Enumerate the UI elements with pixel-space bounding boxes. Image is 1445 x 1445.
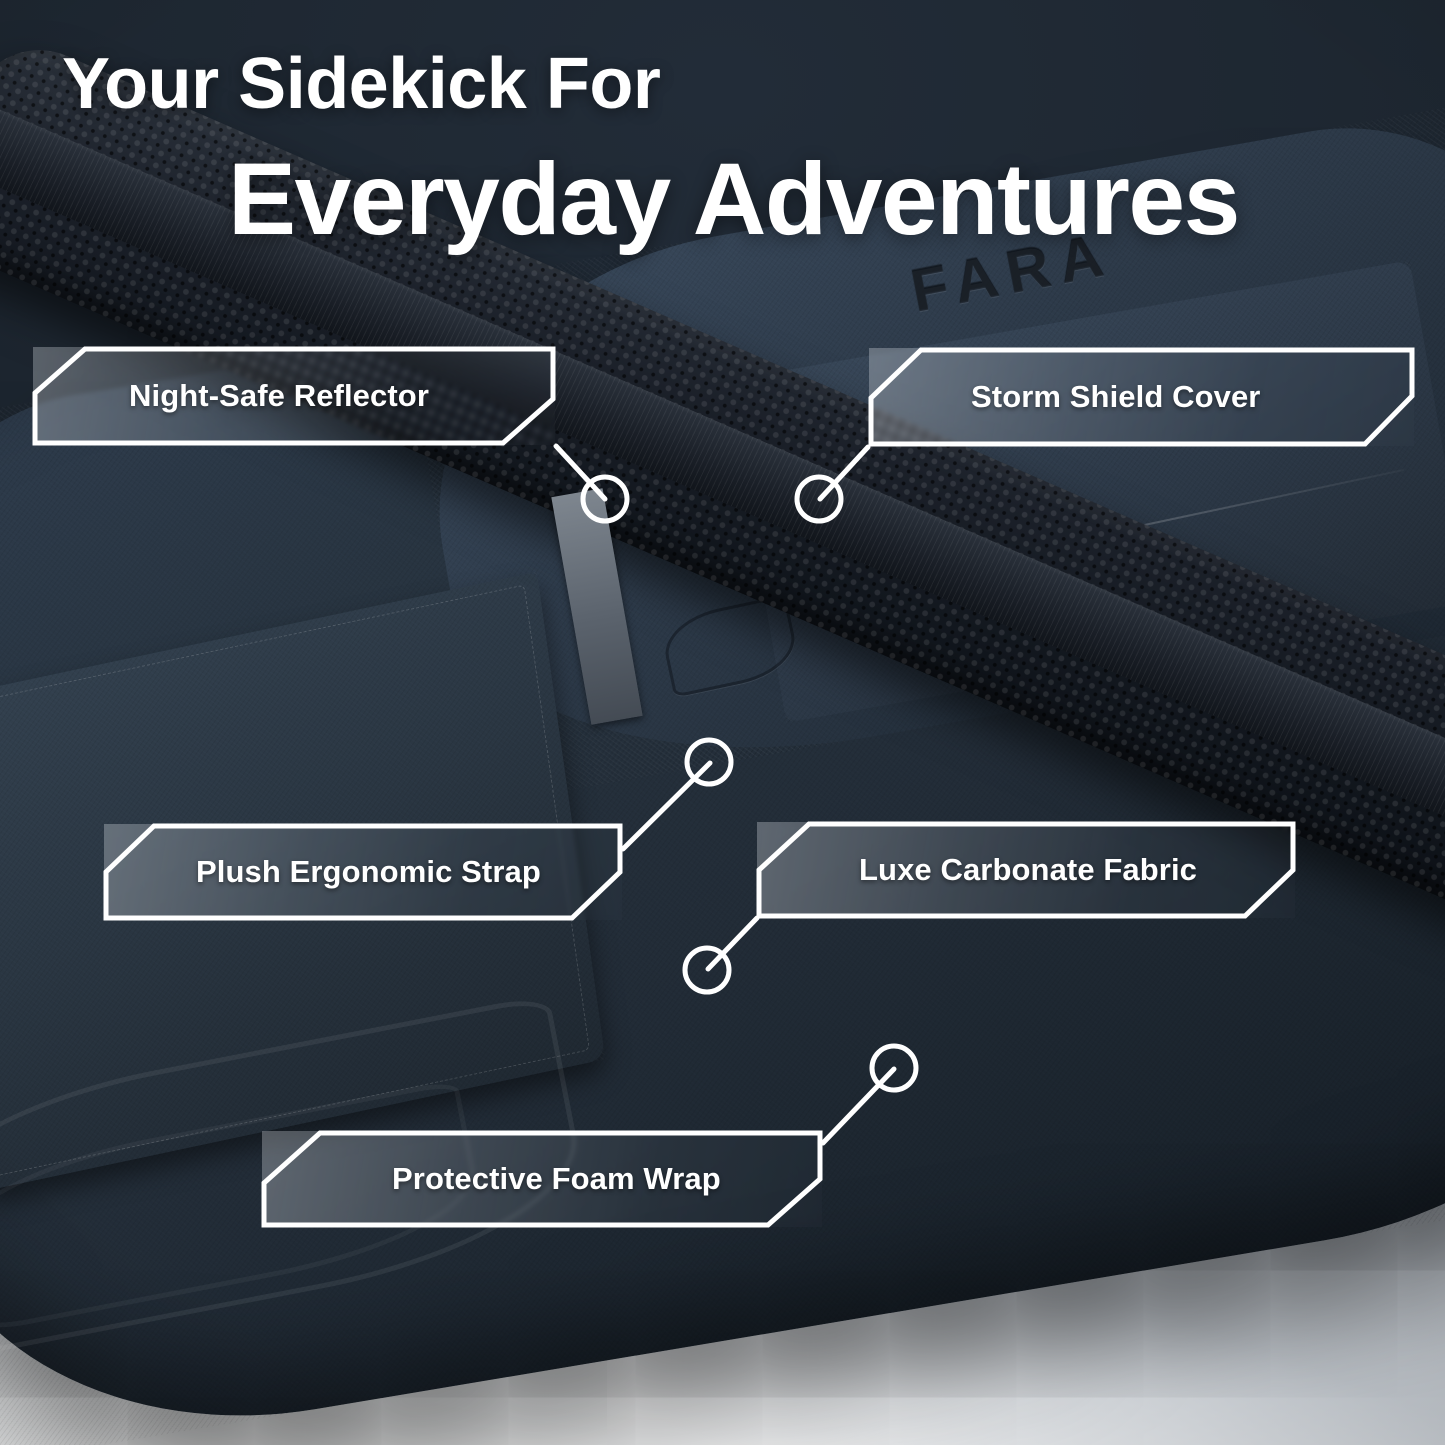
callout-protective-foam-wrap[interactable]: Protective Foam Wrap [262, 1131, 822, 1227]
connector-line-foam [823, 1069, 894, 1143]
connector-line-reflector [556, 446, 605, 499]
callout-label-foam: Protective Foam Wrap [392, 1161, 721, 1197]
callout-luxe-carbonate-fabric[interactable]: Luxe Carbonate Fabric [757, 822, 1295, 918]
headline-line-1: Your Sidekick For [62, 48, 660, 120]
callout-label-reflector: Night-Safe Reflector [129, 378, 429, 414]
callout-storm-shield-cover[interactable]: Storm Shield Cover [869, 348, 1414, 446]
connector-line-strap [623, 763, 710, 849]
callout-plush-ergonomic-strap[interactable]: Plush Ergonomic Strap [104, 824, 622, 920]
headline-line-2: Everyday Adventures [228, 148, 1239, 250]
callout-label-fabric: Luxe Carbonate Fabric [859, 852, 1197, 888]
callout-label-storm: Storm Shield Cover [971, 379, 1260, 415]
infographic-canvas: FARA [0, 0, 1445, 1445]
connector-line-storm [820, 447, 868, 499]
callout-label-strap: Plush Ergonomic Strap [196, 854, 541, 890]
connector-line-fabric [708, 918, 757, 969]
callout-night-safe-reflector[interactable]: Night-Safe Reflector [33, 347, 555, 445]
